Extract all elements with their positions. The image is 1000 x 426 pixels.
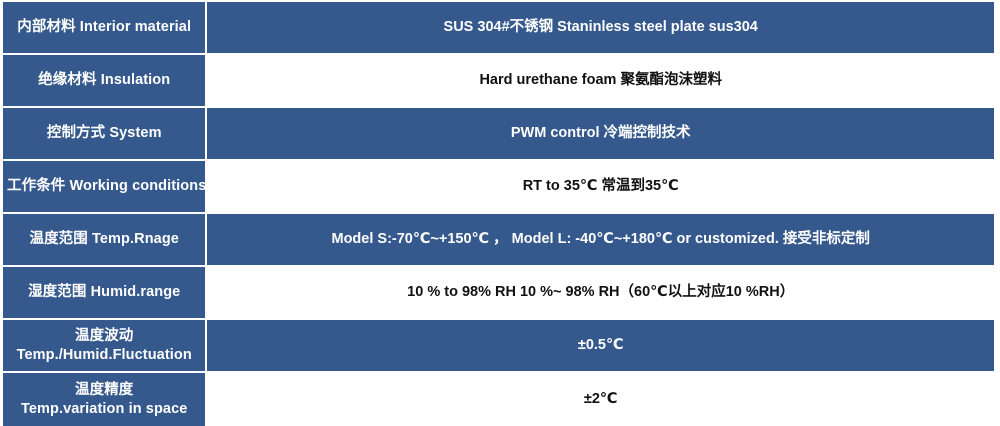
table-row: 温度范围 Temp.RnageModel S:-70℃~+150℃ ， Mode… (3, 214, 994, 267)
spec-value-cell: PWM control 冷端控制技术 (207, 108, 994, 161)
spec-label-line: 控制方式 System (7, 124, 201, 142)
product-specification-table: 内部材料 Interior materialSUS 304#不锈钢 Stanin… (3, 2, 994, 426)
spec-label-line: 湿度范围 Humid.range (7, 283, 201, 301)
spec-value-cell: Hard urethane foam 聚氨酯泡沫塑料 (207, 55, 994, 108)
table-row: 控制方式 SystemPWM control 冷端控制技术 (3, 108, 994, 161)
spec-label-cell: 温度范围 Temp.Rnage (3, 214, 207, 267)
spec-value-cell: ±2℃ (207, 373, 994, 426)
spec-value-cell: Model S:-70℃~+150℃ ， Model L: -40℃~+180℃… (207, 214, 994, 267)
spec-label-line: 温度精度 (7, 381, 201, 399)
table-row: 温度精度Temp.variation in space±2℃ (3, 373, 994, 426)
spec-label-line: 温度范围 Temp.Rnage (7, 230, 201, 248)
spec-label-cell: 绝缘材料 Insulation (3, 55, 207, 108)
spec-label-line: Temp.variation in space (7, 400, 201, 418)
spec-label-line: 工作条件 Working conditions (7, 177, 201, 195)
spec-label-line: 内部材料 Interior material (7, 18, 201, 36)
spec-label-cell: 温度波动Temp./Humid.Fluctuation (3, 320, 207, 373)
spec-label-line: 绝缘材料 Insulation (7, 71, 201, 89)
spec-label-cell: 内部材料 Interior material (3, 2, 207, 55)
spec-value-cell: ±0.5℃ (207, 320, 994, 373)
table-row: 内部材料 Interior materialSUS 304#不锈钢 Stanin… (3, 2, 994, 55)
spec-label-line: 温度波动 (7, 327, 201, 345)
table-row: 工作条件 Working conditionsRT to 35℃ 常温到35℃ (3, 161, 994, 214)
spec-label-cell: 工作条件 Working conditions (3, 161, 207, 214)
table-row: 湿度范围 Humid.range10 % to 98% RH 10 %~ 98%… (3, 267, 994, 320)
table-row: 温度波动Temp./Humid.Fluctuation±0.5℃ (3, 320, 994, 373)
spec-value-cell: SUS 304#不锈钢 Staninless steel plate sus30… (207, 2, 994, 55)
spec-value-cell: RT to 35℃ 常温到35℃ (207, 161, 994, 214)
spec-label-cell: 温度精度Temp.variation in space (3, 373, 207, 426)
spec-label-line: Temp./Humid.Fluctuation (7, 346, 201, 364)
table-row: 绝缘材料 InsulationHard urethane foam 聚氨酯泡沫塑… (3, 55, 994, 108)
spec-label-cell: 湿度范围 Humid.range (3, 267, 207, 320)
spec-label-cell: 控制方式 System (3, 108, 207, 161)
spec-value-cell: 10 % to 98% RH 10 %~ 98% RH（60℃以上对应10 %R… (207, 267, 994, 320)
table-body: 内部材料 Interior materialSUS 304#不锈钢 Stanin… (3, 2, 994, 426)
